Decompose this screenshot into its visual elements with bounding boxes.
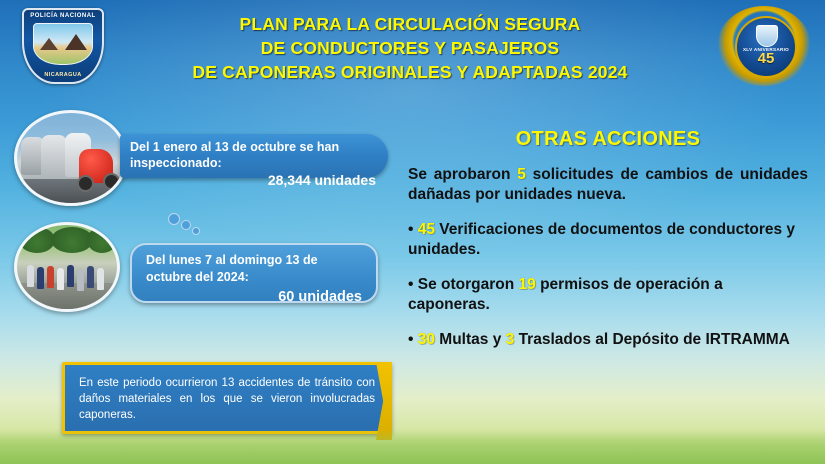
person-shape xyxy=(47,266,54,288)
bubble-dot-medium xyxy=(181,220,191,230)
item-2-post: Verificaciones de documentos de conducto… xyxy=(408,221,795,258)
item-3-bullet: • xyxy=(408,276,413,293)
item-3-count: 19 xyxy=(519,276,536,293)
action-item-verifications: • 45 Verificaciones de documentos de con… xyxy=(408,220,808,260)
person-shape xyxy=(27,265,34,287)
photo-mototaxis xyxy=(14,110,128,206)
slide-canvas: POLICÍA NACIONAL NICARAGUA PLAN PARA LA … xyxy=(0,0,825,464)
accidents-note-text: En este periodo ocurrieron 13 accidentes… xyxy=(79,377,375,421)
person-shape xyxy=(97,268,104,290)
wheel-shape xyxy=(77,175,94,192)
tree-shape xyxy=(87,227,117,253)
emblem-inner-scene xyxy=(33,23,93,65)
wheel-shape xyxy=(103,173,120,190)
item-1-pre: Se aprobaron xyxy=(408,166,517,183)
policia-nacional-emblem: POLICÍA NACIONAL NICARAGUA xyxy=(14,6,110,82)
page-title: PLAN PARA LA CIRCULACIÓN SEGURA DE CONDU… xyxy=(150,12,670,84)
item-3-pre: Se otorgaron xyxy=(418,276,519,293)
callout-1-value: 28,344 unidades xyxy=(130,172,376,188)
bubble-dot-large xyxy=(168,213,180,225)
bubble-dot-small xyxy=(192,227,200,235)
item-1-count: 5 xyxy=(517,166,526,183)
action-item-approvals: Se aprobaron 5 solicitudes de cambios de… xyxy=(408,165,808,205)
photo-crowd-street xyxy=(14,222,120,312)
vehicle-shape xyxy=(41,135,67,177)
emblem-top-text: POLICÍA NACIONAL xyxy=(24,13,102,19)
item-2-count: 45 xyxy=(418,221,435,238)
shield-icon: POLICÍA NACIONAL NICARAGUA xyxy=(22,8,104,84)
person-shape xyxy=(67,265,74,287)
item-4-bullet: • xyxy=(408,331,413,348)
emblem-bottom-text: NICARAGUA xyxy=(24,72,102,78)
callout-2-text: Del lunes 7 al domingo 13 de octubre del… xyxy=(146,252,362,286)
callout-weekly-units: Del lunes 7 al domingo 13 de octubre del… xyxy=(130,243,378,303)
item-4-post: Traslados al Depósito de IRTRAMMA xyxy=(514,331,790,348)
callout-1-text: Del 1 enero al 13 de octubre se han insp… xyxy=(130,139,376,171)
mini-shield-icon xyxy=(756,25,778,47)
callout-2-value: 60 unidades xyxy=(146,289,362,306)
action-item-permits: • Se otorgaron 19 permisos de operación … xyxy=(408,275,808,315)
person-shape xyxy=(77,269,84,291)
person-shape xyxy=(37,267,44,289)
callout-inspected-units: Del 1 enero al 13 de octubre se han insp… xyxy=(120,134,388,178)
bottom-green-band xyxy=(0,430,825,464)
section-title: OTRAS ACCIONES xyxy=(408,128,808,151)
tree-shape xyxy=(19,227,55,253)
item-4-count-transfers: 3 xyxy=(506,331,515,348)
accidents-note-box: En este periodo ocurrieron 13 accidentes… xyxy=(62,362,392,434)
emblem-anniversary-number: 45 xyxy=(737,50,795,67)
title-line-3: DE CAPONERAS ORIGINALES Y ADAPTADAS 2024 xyxy=(150,60,670,84)
action-item-fines: • 30 Multas y 3 Traslados al Depósito de… xyxy=(408,330,808,350)
title-line-1: PLAN PARA LA CIRCULACIÓN SEGURA xyxy=(150,12,670,36)
person-shape xyxy=(57,268,64,290)
other-actions-section: OTRAS ACCIONES Se aprobaron 5 solicitude… xyxy=(408,128,808,365)
emblem-disc: XLV ANIVERSARIO 45 xyxy=(735,16,797,78)
aniversario-45-emblem: XLV ANIVERSARIO 45 xyxy=(717,6,811,86)
title-line-2: DE CONDUCTORES Y PASAJEROS xyxy=(150,36,670,60)
person-shape xyxy=(87,266,94,288)
item-4-count-fines: 30 xyxy=(418,331,435,348)
item-2-bullet: • xyxy=(408,221,413,238)
item-4-mid: Multas y xyxy=(435,331,506,348)
